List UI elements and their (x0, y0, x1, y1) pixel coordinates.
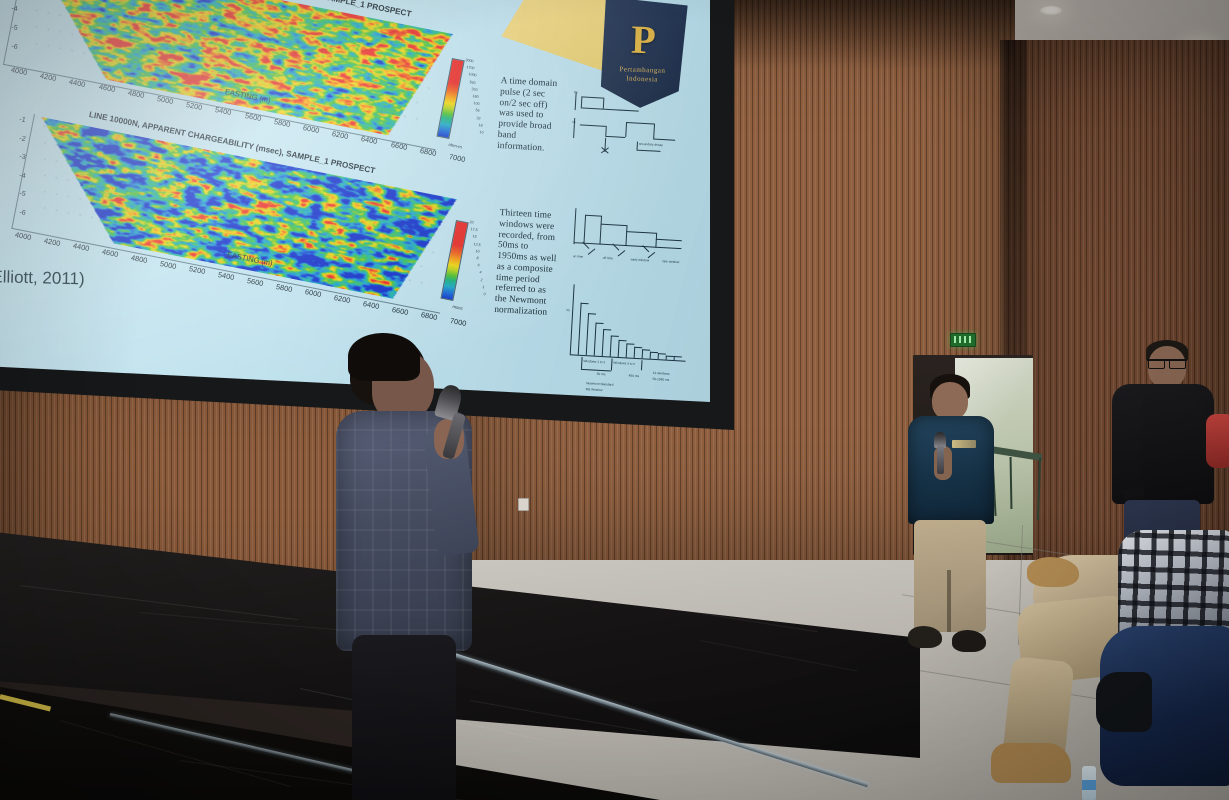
exit-sign (950, 333, 976, 347)
presenter2-trouser-gap (947, 570, 951, 632)
decay-window-cap (619, 340, 627, 341)
decay-window-cap (581, 303, 589, 304)
chart2-colorbar-label: 0 (483, 292, 486, 296)
chart1-ytick: -6 (11, 43, 18, 51)
person-seated-plaid (1118, 530, 1229, 800)
chart2-xtick: 5200 (188, 264, 206, 276)
diagram-label-offtime: off time (603, 256, 614, 261)
chart2-colorbar-label: 1 (482, 285, 485, 289)
chart2-colorbar-unit: msec (452, 304, 463, 311)
chart2-colorbar-label: 20 (469, 220, 474, 225)
chart2-colorbar-label: 2 (480, 278, 483, 282)
chart2-colorbar-label: 12.5 (473, 242, 481, 247)
presenter2-microphone-body (937, 446, 944, 474)
seated-plaid-dark-arm (1096, 672, 1152, 732)
diagram-label-newmont: Newmont Standard (586, 381, 613, 387)
chart2-xtick: 4000 (14, 230, 32, 242)
chart2-colorbar-label: 10 (475, 249, 480, 254)
decay-window-bar (578, 303, 582, 355)
logo-wordmark: Pertambangan Indonesia (599, 64, 686, 84)
decay-window-cap (611, 335, 619, 336)
chart1-colorbar-label: 1000 (468, 72, 477, 77)
chart2-colorbar-label: 8 (476, 256, 479, 260)
seated-khaki-tan-boot-back (1027, 557, 1079, 587)
decay-window-bar (626, 344, 628, 358)
logo-wordmark-line2: Indonesia (599, 73, 685, 85)
attendee-glasses-lens-right (1169, 359, 1186, 369)
presenter2-right-boot (952, 630, 986, 652)
presenter2-head (932, 382, 968, 420)
slide-paragraph-2: Thirteen timewindows wererecorded, from5… (494, 208, 576, 320)
chart2-ytick: -2 (19, 135, 26, 143)
attendee-red-item (1206, 414, 1229, 468)
decay-window-bar (594, 322, 597, 355)
logo-letter-p-icon: P (600, 19, 687, 62)
decay-window-bar (634, 347, 636, 358)
decay-window-cap (642, 350, 650, 351)
diagram-label-windows-1to2: Windows 1 to 2 (583, 359, 605, 364)
person-foreground-speaker (330, 335, 510, 800)
attendee-glasses-lens-left (1148, 359, 1165, 369)
timedomain-waveform-diagram: secondary decay Vp Vs (568, 86, 686, 200)
decay-window-cap (658, 354, 666, 355)
chart2-colorbar-label: 6 (478, 263, 481, 267)
chart1-xtick: 4000 (10, 65, 28, 77)
chart2-xtick: 6000 (304, 287, 322, 299)
chart1-colorbar-label: 1700 (467, 65, 476, 70)
presentation-room-scene: P Pertambangan Indonesia N Spacing LINE … (0, 0, 1229, 800)
diagram-label-vs: Vs (572, 120, 576, 124)
slide-citation: (Elliott, 2011) (0, 267, 85, 289)
chart2-xtick: 4600 (101, 247, 119, 259)
decay-curve-windows-diagram: Windows 1 to 2 Windows 3 to n 50 ms 450 … (561, 278, 692, 403)
diagram-label-early: early window (631, 257, 650, 262)
chart2-ytick: -4 (19, 172, 26, 180)
decay-window-cap (626, 344, 634, 345)
decay-window-cap (650, 352, 658, 353)
ceiling-downlight (1040, 6, 1062, 15)
chart2-xtick: 5400 (217, 270, 235, 282)
decay-window-bar (610, 335, 612, 356)
chart2-xtick: 4400 (72, 241, 90, 253)
diagram-label-range: 50-1950 ms (652, 377, 669, 382)
attendee-black-jacket (1112, 384, 1214, 504)
presenter2-left-boot (908, 626, 942, 648)
chart1-colorbar-label: 3000 (465, 58, 474, 63)
chart2-xtick: 4800 (130, 253, 148, 265)
water-bottle (1082, 766, 1096, 800)
diagram-axis-vs: Vs (566, 308, 570, 312)
chart2-colorbar-label: 17.5 (471, 227, 479, 232)
chart1-ytick: -4 (11, 5, 18, 13)
chart1-ytick: -5 (11, 24, 18, 32)
decay-window-cap (603, 329, 611, 330)
presenter2-badge (952, 440, 976, 448)
wall-power-socket (518, 498, 529, 511)
speaker-hair-top (348, 333, 420, 381)
decay-window-cap (596, 322, 604, 323)
diagram-label-ontime: on time (573, 254, 584, 259)
decay-window-bar (618, 340, 620, 357)
diagram-label-late: late window (663, 259, 680, 264)
diagram-label-windows-3toN: Windows 3 to n (613, 361, 635, 366)
diagram-label-composite: 13 windows (653, 371, 670, 376)
decay-window-bar (642, 350, 643, 359)
decay-window-cap (634, 347, 642, 348)
chart2-xtick: 6800 (420, 310, 438, 322)
decay-window-cap (588, 314, 596, 315)
decay-window-cap (674, 356, 682, 357)
chart2-ytick: -6 (19, 209, 26, 217)
seated-khaki-tan-boot-front (991, 743, 1071, 783)
chart2-ytick: -1 (19, 116, 26, 124)
slide-paragraph-1: A time domainpulse (2 secon/2 sec off)wa… (497, 76, 573, 155)
diagram-label-450ms: 450 ms (629, 374, 640, 379)
diagram-label-vp: Vp (574, 90, 578, 94)
chart2-xtick: 5600 (246, 276, 264, 288)
diagram-label-m3: M3 Window (586, 387, 603, 392)
decay-window-cap (666, 355, 674, 356)
diagram-label-50ms: 50 ms (597, 372, 606, 376)
speaker-trousers (352, 635, 456, 800)
decay-window-bar (602, 329, 604, 356)
chart1-colorbar-label: 560 (469, 80, 476, 85)
chart2-xtick: 6400 (362, 299, 380, 311)
chart2-xtick: 7000 (449, 316, 467, 328)
chart2-colorbar-label: 15 (472, 234, 477, 239)
decay-window-bar (586, 314, 589, 356)
chart-apparent-chargeability: N Spacing LINE 10000N, APPARENT CHARGEAB… (0, 92, 482, 282)
chart2-colorbar-label: 4 (479, 270, 482, 274)
diagram-label-secondary: secondary decay (639, 142, 663, 147)
chart2-xtick: 6200 (333, 293, 351, 305)
bottle-label (1082, 780, 1096, 790)
